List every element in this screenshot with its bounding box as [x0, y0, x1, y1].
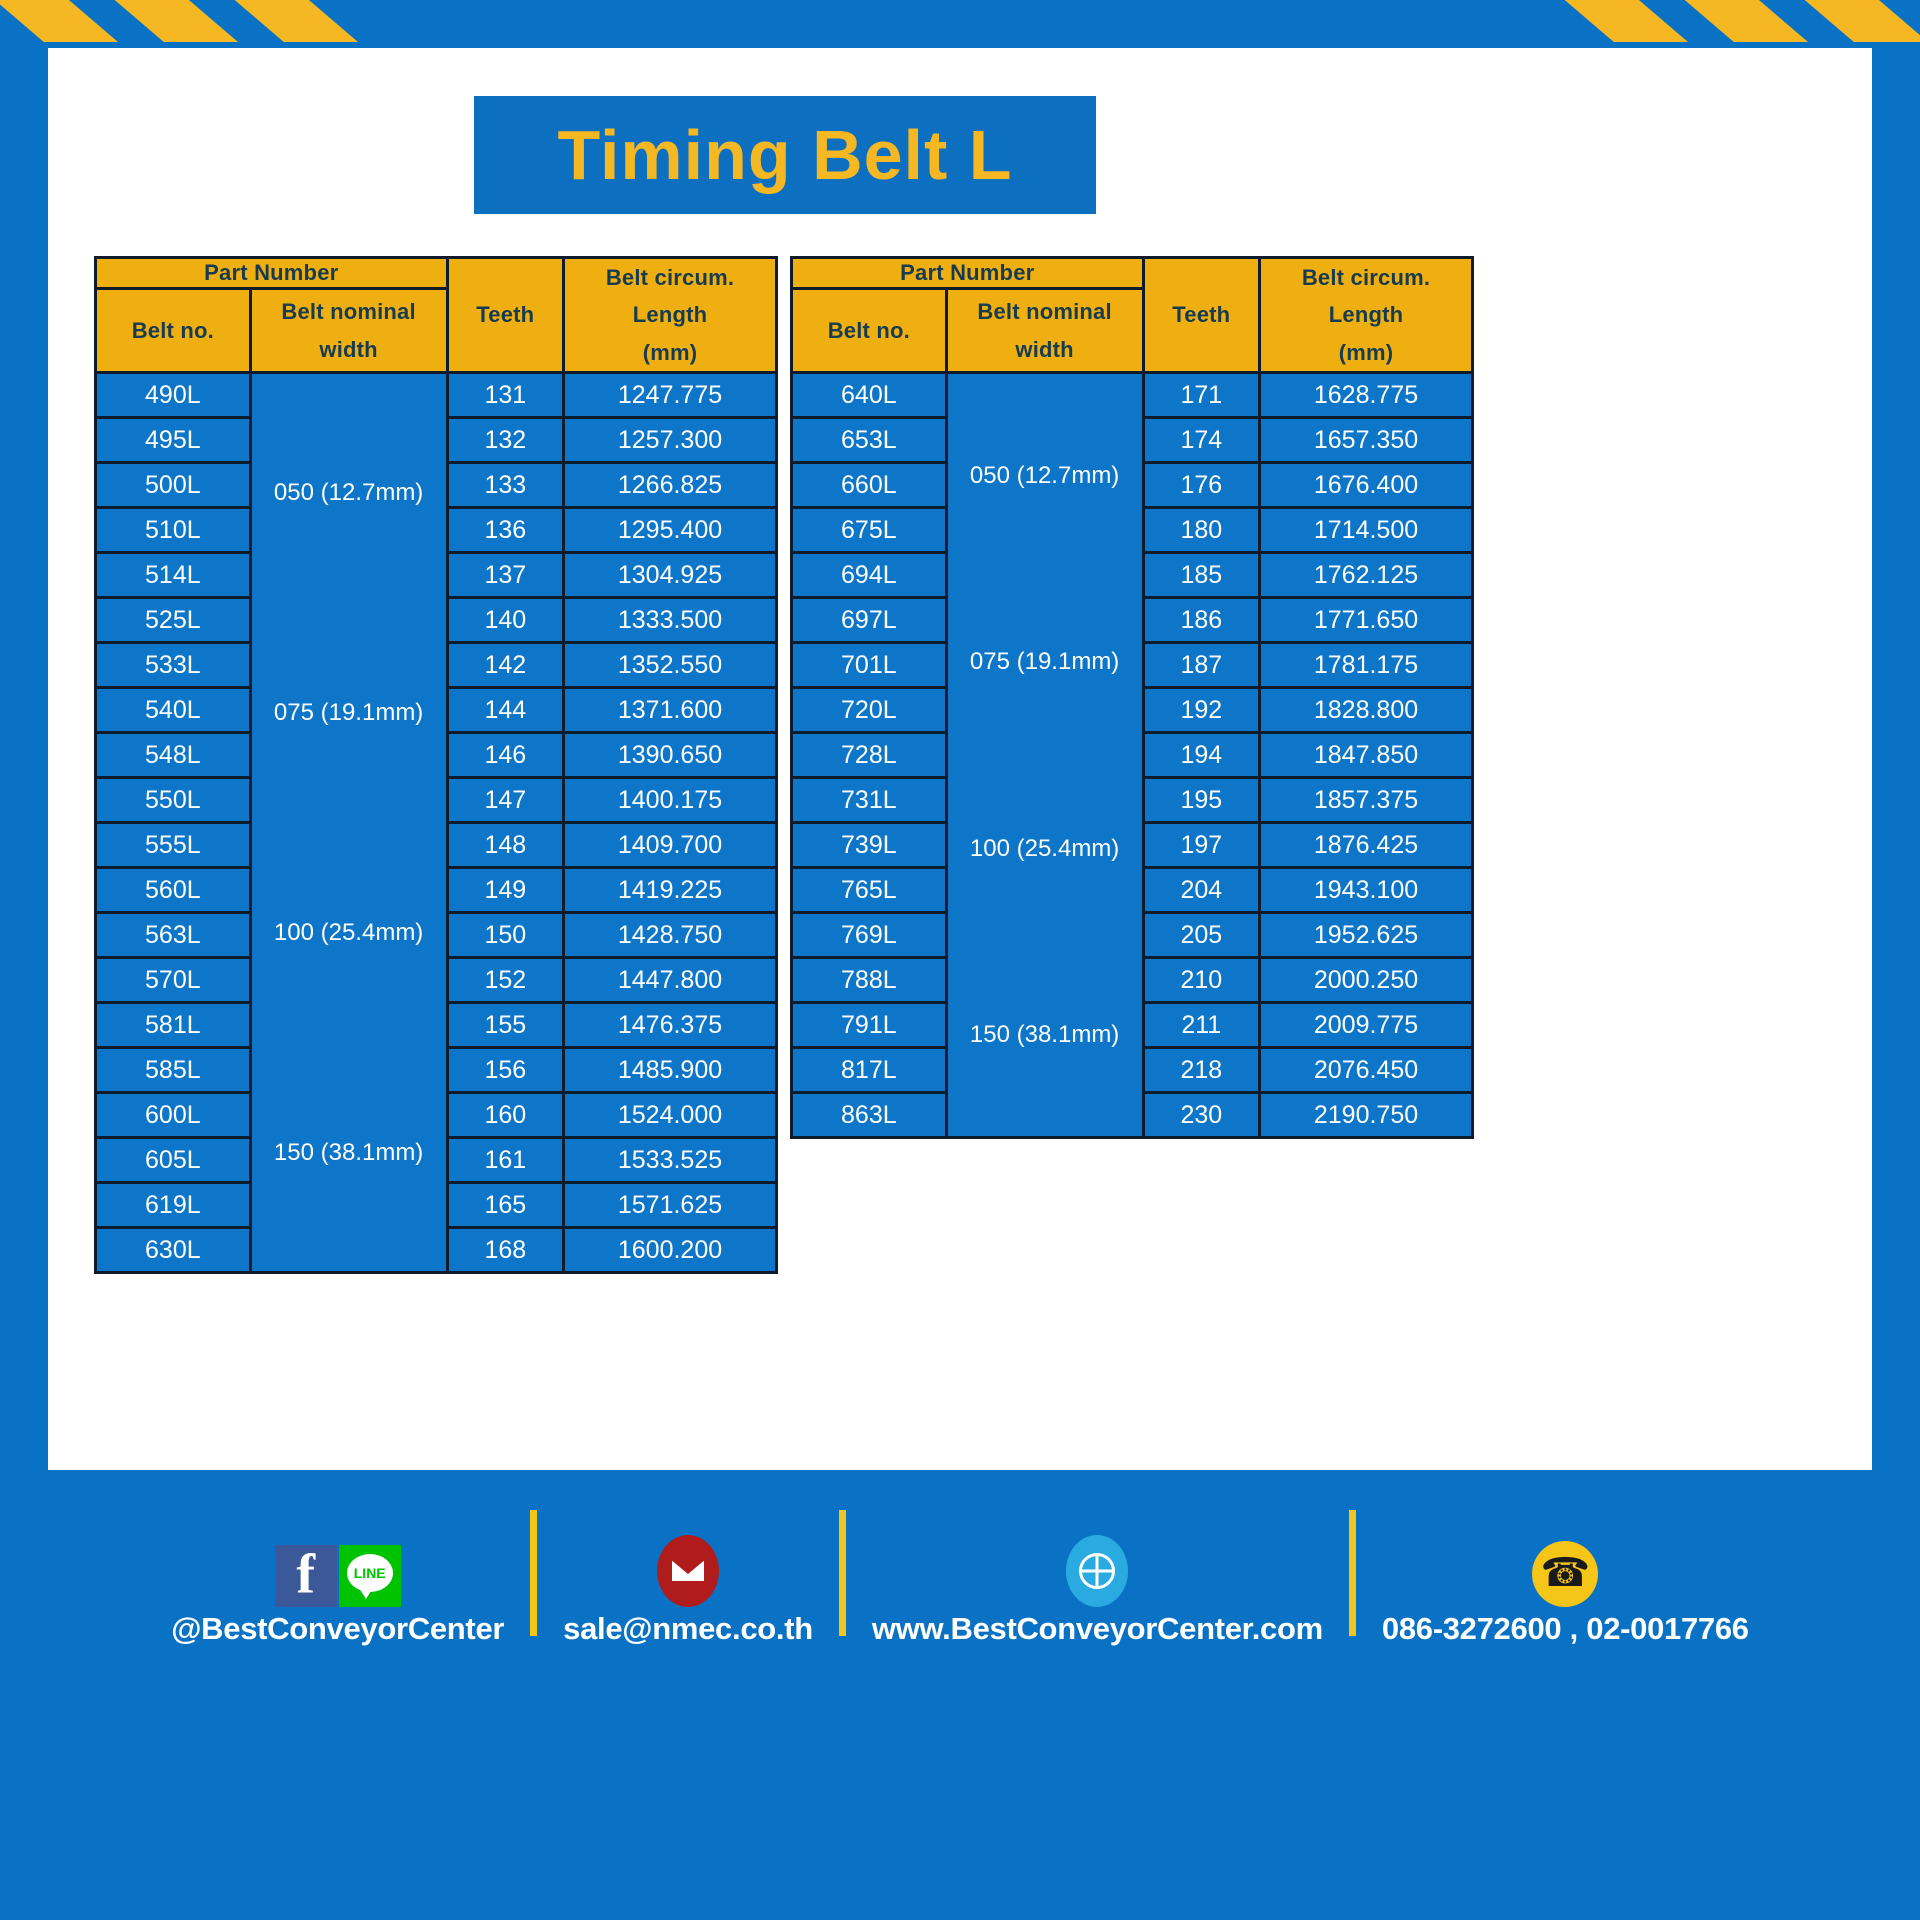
table-body-left: 490L050 (12.7mm)075 (19.1mm)100 (25.4mm)…: [96, 373, 777, 1273]
cell-belt-no: 540L: [96, 688, 251, 733]
cell-belt-no: 563L: [96, 913, 251, 958]
cell-length: 2190.750: [1260, 1093, 1473, 1138]
cell-length: 1857.375: [1260, 778, 1473, 823]
cell-belt-no: 619L: [96, 1183, 251, 1228]
cell-belt-no: 863L: [792, 1093, 947, 1138]
width-option-2: 100 (25.4mm): [970, 822, 1119, 875]
line-icon[interactable]: [339, 1545, 401, 1607]
cell-belt-no: 731L: [792, 778, 947, 823]
cell-length: 1781.175: [1260, 643, 1473, 688]
cell-teeth: 192: [1143, 688, 1260, 733]
cell-belt-no: 500L: [96, 463, 251, 508]
width-option-2: 100 (25.4mm): [274, 906, 423, 959]
page-title: Timing Belt L: [474, 96, 1096, 214]
header-belt-no: Belt no.: [792, 289, 947, 373]
cell-teeth: 156: [447, 1048, 564, 1093]
cell-length: 1352.550: [564, 643, 777, 688]
cell-belt-nominal-width: 050 (12.7mm)075 (19.1mm)100 (25.4mm)150 …: [250, 373, 447, 1273]
cell-belt-no: 581L: [96, 1003, 251, 1048]
cell-length: 1771.650: [1260, 598, 1473, 643]
cell-length: 2000.250: [1260, 958, 1473, 1003]
header-mm-line3: (mm): [565, 334, 775, 371]
cell-teeth: 195: [1143, 778, 1260, 823]
cell-length: 1571.625: [564, 1183, 777, 1228]
cell-belt-no: 490L: [96, 373, 251, 418]
cell-belt-no: 560L: [96, 868, 251, 913]
header-belt-circum-length: Belt circum. Length (mm): [564, 258, 777, 373]
cell-belt-no: 533L: [96, 643, 251, 688]
cell-belt-no: 550L: [96, 778, 251, 823]
width-option-1: 075 (19.1mm): [970, 635, 1119, 688]
facebook-icon[interactable]: [275, 1545, 337, 1607]
cell-belt-no: 630L: [96, 1228, 251, 1273]
cell-belt-no: 739L: [792, 823, 947, 868]
cell-teeth: 211: [1143, 1003, 1260, 1048]
header-width-line2: width: [252, 331, 446, 368]
cell-teeth: 171: [1143, 373, 1260, 418]
cell-teeth: 131: [447, 373, 564, 418]
cell-length: 1428.750: [564, 913, 777, 958]
width-option-3: 150 (38.1mm): [970, 1008, 1119, 1061]
cell-length: 1628.775: [1260, 373, 1473, 418]
cell-length: 1524.000: [564, 1093, 777, 1138]
cell-belt-no: 769L: [792, 913, 947, 958]
cell-teeth: 147: [447, 778, 564, 823]
cell-teeth: 161: [447, 1138, 564, 1183]
cell-length: 1266.825: [564, 463, 777, 508]
cell-teeth: 137: [447, 553, 564, 598]
timing-belt-table-left: Part Number Teeth Belt circum. Length (m…: [94, 256, 778, 1274]
header-belt-nominal-line1: Belt nominal: [252, 293, 446, 330]
cell-belt-no: 555L: [96, 823, 251, 868]
table-row: 490L050 (12.7mm)075 (19.1mm)100 (25.4mm)…: [96, 373, 777, 418]
cell-teeth: 168: [447, 1228, 564, 1273]
cell-teeth: 218: [1143, 1048, 1260, 1093]
header-belt-nominal-line1: Belt nominal: [948, 293, 1142, 330]
cell-belt-no: 570L: [96, 958, 251, 1003]
chevron-decoration-icon: [1800, 0, 1920, 42]
cell-length: 1714.500: [1260, 508, 1473, 553]
table-body-right: 640L050 (12.7mm)075 (19.1mm)100 (25.4mm)…: [792, 373, 1473, 1138]
cell-length: 1371.600: [564, 688, 777, 733]
width-option-0: 050 (12.7mm): [970, 449, 1119, 502]
cell-belt-no: 675L: [792, 508, 947, 553]
table-header-row-top: Part Number Teeth Belt circum. Length (m…: [792, 258, 1473, 289]
table-header-row-top: Part Number Teeth Belt circum. Length (m…: [96, 258, 777, 289]
chevron-decoration-icon: [230, 0, 358, 42]
cell-length: 1476.375: [564, 1003, 777, 1048]
cell-belt-nominal-width: 050 (12.7mm)075 (19.1mm)100 (25.4mm)150 …: [946, 373, 1143, 1138]
cell-length: 1943.100: [1260, 868, 1473, 913]
header-belt-circum-length: Belt circum. Length (mm): [1260, 258, 1473, 373]
cell-belt-no: 817L: [792, 1048, 947, 1093]
cell-teeth: 230: [1143, 1093, 1260, 1138]
cell-teeth: 140: [447, 598, 564, 643]
cell-teeth: 152: [447, 958, 564, 1003]
header-teeth: Teeth: [1143, 258, 1260, 373]
footer-divider: [839, 1510, 846, 1636]
table-row: 640L050 (12.7mm)075 (19.1mm)100 (25.4mm)…: [792, 373, 1473, 418]
cell-length: 1304.925: [564, 553, 777, 598]
page-title-text: Timing Belt L: [557, 120, 1012, 190]
cell-length: 2009.775: [1260, 1003, 1473, 1048]
header-length-line2: Length: [1261, 296, 1471, 333]
cell-teeth: 144: [447, 688, 564, 733]
cell-teeth: 165: [447, 1183, 564, 1228]
cell-length: 1952.625: [1260, 913, 1473, 958]
footer-website-group[interactable]: www.BestConveyorCenter.com: [846, 1499, 1349, 1647]
cell-length: 1447.800: [564, 958, 777, 1003]
cell-teeth: 210: [1143, 958, 1260, 1003]
header-part-number: Part Number: [792, 258, 1144, 289]
header-part-number: Part Number: [96, 258, 448, 289]
cell-belt-no: 495L: [96, 418, 251, 463]
footer-social-group[interactable]: @BestConveyorCenter: [145, 1499, 530, 1647]
cell-belt-no: 720L: [792, 688, 947, 733]
cell-belt-no: 791L: [792, 1003, 947, 1048]
cell-length: 1390.650: [564, 733, 777, 778]
globe-icon[interactable]: [1066, 1535, 1128, 1607]
cell-teeth: 132: [447, 418, 564, 463]
footer-bar: @BestConveyorCenter sale@nmec.co.th www.…: [0, 1470, 1920, 1920]
cell-belt-no: 510L: [96, 508, 251, 553]
footer-social-label: @BestConveyorCenter: [171, 1611, 504, 1647]
width-option-0: 050 (12.7mm): [274, 466, 423, 519]
cell-teeth: 174: [1143, 418, 1260, 463]
chevron-decoration-icon: [1560, 0, 1688, 42]
cell-belt-no: 728L: [792, 733, 947, 778]
cell-length: 1485.900: [564, 1048, 777, 1093]
chevron-decoration-icon: [1680, 0, 1808, 42]
cell-teeth: 205: [1143, 913, 1260, 958]
footer-phone-label: 086-3272600 , 02-0017766: [1382, 1611, 1749, 1647]
header-belt-no: Belt no.: [96, 289, 251, 373]
cell-length: 1533.525: [564, 1138, 777, 1183]
cell-teeth: 146: [447, 733, 564, 778]
cell-teeth: 187: [1143, 643, 1260, 688]
cell-teeth: 185: [1143, 553, 1260, 598]
header-width-line2: width: [948, 331, 1142, 368]
cell-length: 1828.800: [1260, 688, 1473, 733]
width-option-1: 075 (19.1mm): [274, 686, 423, 739]
width-option-3: 150 (38.1mm): [274, 1126, 423, 1179]
footer-divider: [530, 1510, 537, 1636]
cell-length: 1247.775: [564, 373, 777, 418]
cell-teeth: 204: [1143, 868, 1260, 913]
cell-belt-no: 600L: [96, 1093, 251, 1138]
cell-belt-no: 525L: [96, 598, 251, 643]
cell-length: 1400.175: [564, 778, 777, 823]
cell-teeth: 149: [447, 868, 564, 913]
cell-teeth: 150: [447, 913, 564, 958]
cell-belt-no: 640L: [792, 373, 947, 418]
cell-length: 1657.350: [1260, 418, 1473, 463]
footer-email-label: sale@nmec.co.th: [563, 1611, 813, 1647]
cell-teeth: 197: [1143, 823, 1260, 868]
cell-length: 1676.400: [1260, 463, 1473, 508]
cell-belt-no: 548L: [96, 733, 251, 778]
cell-teeth: 136: [447, 508, 564, 553]
chevron-decoration-icon: [0, 0, 118, 42]
email-icon[interactable]: [657, 1535, 719, 1607]
cell-belt-no: 605L: [96, 1138, 251, 1183]
cell-length: 1847.850: [1260, 733, 1473, 778]
header-belt-circum-line1: Belt circum.: [1261, 259, 1471, 296]
cell-teeth: 148: [447, 823, 564, 868]
header-belt-nominal-width: Belt nominal width: [946, 289, 1143, 373]
cell-belt-no: 660L: [792, 463, 947, 508]
cell-belt-no: 788L: [792, 958, 947, 1003]
cell-teeth: 180: [1143, 508, 1260, 553]
cell-belt-no: 694L: [792, 553, 947, 598]
cell-teeth: 142: [447, 643, 564, 688]
phone-icon[interactable]: [1532, 1541, 1598, 1607]
footer-divider: [1349, 1510, 1356, 1636]
footer-phone-group[interactable]: 086-3272600 , 02-0017766: [1356, 1499, 1775, 1647]
cell-belt-no: 701L: [792, 643, 947, 688]
cell-teeth: 155: [447, 1003, 564, 1048]
cell-length: 1419.225: [564, 868, 777, 913]
cell-length: 1409.700: [564, 823, 777, 868]
cell-length: 2076.450: [1260, 1048, 1473, 1093]
timing-belt-table-right: Part Number Teeth Belt circum. Length (m…: [790, 256, 1474, 1139]
chevron-decoration-icon: [110, 0, 238, 42]
header-mm-line3: (mm): [1261, 334, 1471, 371]
cell-length: 1762.125: [1260, 553, 1473, 598]
header-belt-circum-line1: Belt circum.: [565, 259, 775, 296]
cell-teeth: 186: [1143, 598, 1260, 643]
footer-website-label: www.BestConveyorCenter.com: [872, 1611, 1323, 1647]
cell-teeth: 194: [1143, 733, 1260, 778]
cell-length: 1257.300: [564, 418, 777, 463]
cell-length: 1333.500: [564, 598, 777, 643]
header-belt-nominal-width: Belt nominal width: [250, 289, 447, 373]
cell-belt-no: 514L: [96, 553, 251, 598]
footer-email-group[interactable]: sale@nmec.co.th: [537, 1499, 839, 1647]
cell-length: 1600.200: [564, 1228, 777, 1273]
cell-teeth: 176: [1143, 463, 1260, 508]
cell-belt-no: 653L: [792, 418, 947, 463]
cell-teeth: 160: [447, 1093, 564, 1138]
cell-length: 1876.425: [1260, 823, 1473, 868]
cell-belt-no: 765L: [792, 868, 947, 913]
header-length-line2: Length: [565, 296, 775, 333]
cell-belt-no: 697L: [792, 598, 947, 643]
header-teeth: Teeth: [447, 258, 564, 373]
cell-teeth: 133: [447, 463, 564, 508]
cell-length: 1295.400: [564, 508, 777, 553]
cell-belt-no: 585L: [96, 1048, 251, 1093]
